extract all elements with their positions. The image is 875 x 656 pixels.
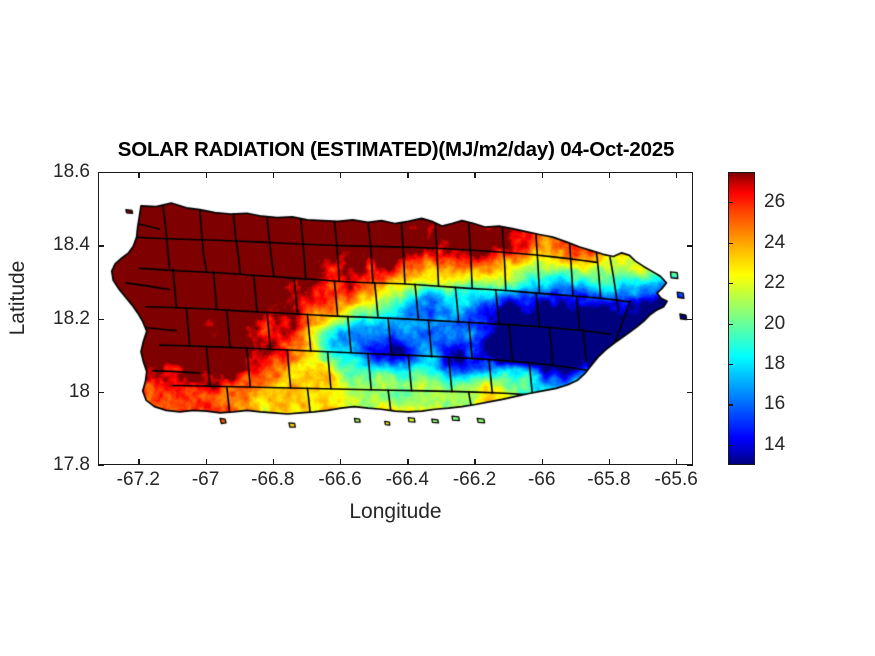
- colorbar-tick: [728, 445, 733, 446]
- x-tick: [676, 172, 677, 178]
- x-tick: [273, 172, 274, 178]
- x-ticklabel: -66.2: [453, 469, 496, 491]
- y-tick: [98, 319, 104, 320]
- y-tick: [687, 392, 693, 393]
- y-ticklabel: 18.4: [53, 234, 90, 256]
- x-tick: [273, 459, 274, 465]
- y-tick: [687, 465, 693, 466]
- x-tick: [206, 172, 207, 178]
- x-tick: [474, 172, 475, 178]
- colorbar-tick: [728, 324, 733, 325]
- map-axes[interactable]: [98, 172, 693, 465]
- colorbar-ticklabel: 26: [764, 191, 785, 213]
- colorbar-tick: [728, 202, 733, 203]
- colorbar-tick: [728, 404, 733, 405]
- y-tick: [98, 245, 104, 246]
- x-tick: [474, 459, 475, 465]
- colorbar-ticklabel: 14: [764, 434, 785, 456]
- x-tick: [609, 459, 610, 465]
- x-tick: [542, 172, 543, 178]
- colorbar-ticklabel: 24: [764, 232, 785, 254]
- y-ticklabel: 18.2: [53, 308, 90, 330]
- colorbar-ticklabel: 22: [764, 272, 785, 294]
- x-ticklabel: -66.4: [386, 469, 429, 491]
- x-tick: [407, 459, 408, 465]
- y-tick: [687, 172, 693, 173]
- figure-canvas: SOLAR RADIATION (ESTIMATED)(MJ/m2/day) 0…: [0, 0, 875, 656]
- x-ticklabel: -66.8: [251, 469, 294, 491]
- x-ticklabel: -67: [192, 469, 219, 491]
- x-ticklabel: -66: [528, 469, 555, 491]
- colorbar-tick: [728, 364, 733, 365]
- x-ticklabel: -65.6: [655, 469, 698, 491]
- y-tick: [98, 172, 104, 173]
- y-tick: [98, 392, 104, 393]
- y-tick: [687, 319, 693, 320]
- x-tick: [138, 172, 139, 178]
- x-tick: [542, 459, 543, 465]
- y-tick: [687, 245, 693, 246]
- y-tick: [98, 465, 104, 466]
- y-ticklabel: 18: [69, 381, 90, 403]
- x-ticklabel: -65.8: [587, 469, 630, 491]
- solar-radiation-heatmap: [99, 173, 693, 465]
- x-ticklabel: -67.2: [117, 469, 160, 491]
- x-tick: [609, 172, 610, 178]
- colorbar-ticklabel: 16: [764, 393, 785, 415]
- colorbar-ticklabel: 20: [764, 313, 785, 335]
- x-axis-label: Longitude: [98, 500, 693, 524]
- x-tick: [340, 459, 341, 465]
- x-tick: [676, 459, 677, 465]
- page-title: SOLAR RADIATION (ESTIMATED)(MJ/m2/day) 0…: [98, 138, 694, 162]
- x-tick: [138, 459, 139, 465]
- x-tick: [206, 459, 207, 465]
- y-axis-label: Latitude: [6, 238, 30, 358]
- colorbar-ticklabel: 18: [764, 353, 785, 375]
- y-ticklabel: 17.8: [53, 454, 90, 476]
- colorbar-tick: [728, 243, 733, 244]
- y-ticklabel: 18.6: [53, 161, 90, 183]
- colorbar[interactable]: [728, 172, 755, 465]
- x-tick: [407, 172, 408, 178]
- x-tick: [340, 172, 341, 178]
- colorbar-tick: [728, 283, 733, 284]
- x-ticklabel: -66.6: [318, 469, 361, 491]
